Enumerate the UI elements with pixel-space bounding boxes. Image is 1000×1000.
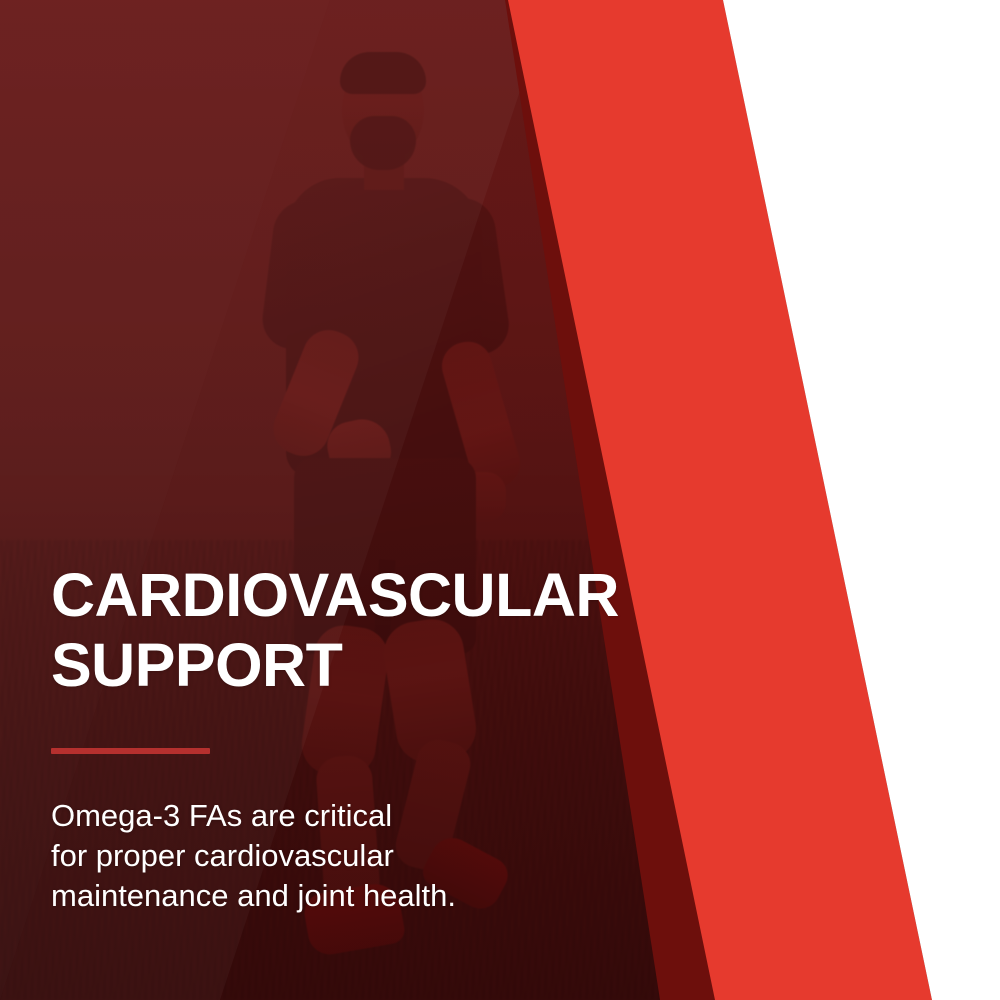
accent-divider xyxy=(51,748,210,754)
promo-banner: CARDIOVASCULAR SUPPORT Omega-3 FAs are c… xyxy=(0,0,1000,1000)
text-content-block: CARDIOVASCULAR SUPPORT Omega-3 FAs are c… xyxy=(51,560,691,916)
body-copy: Omega-3 FAs are critical for proper card… xyxy=(51,796,691,916)
headline: CARDIOVASCULAR SUPPORT xyxy=(51,560,691,700)
